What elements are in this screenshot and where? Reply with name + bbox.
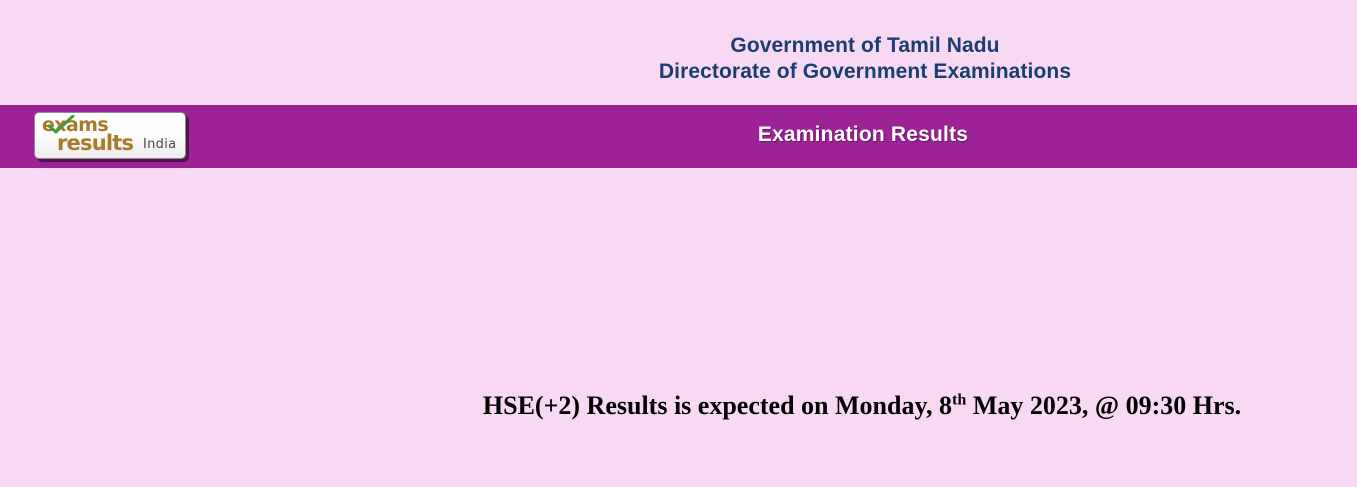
announcement-ordinal-suffix: th [952,391,966,408]
announcement-lead: HSE(+2) Results is expected on Monday, 8 [483,391,952,420]
government-title-line-1: Government of Tamil Nadu [0,33,1357,59]
result-announcement: HSE(+2) Results is expected on Monday, 8… [483,391,1241,420]
banner-title: Examination Results [758,123,968,146]
announcement-container: HSE(+2) Results is expected on Monday, 8… [0,391,1357,421]
government-header-text: Government of Tamil Nadu Directorate of … [0,33,1357,85]
content-area: HSE(+2) Results is expected on Monday, 8… [0,168,1357,487]
government-header: Government of Tamil Nadu Directorate of … [0,0,1357,105]
examination-results-banner: exams results India Examination Results [0,105,1357,168]
banner-title-container: Examination Results [0,122,1357,148]
announcement-trail: May 2023, @ 09:30 Hrs. [966,391,1241,420]
government-title-line-2: Directorate of Government Examinations [0,59,1357,85]
